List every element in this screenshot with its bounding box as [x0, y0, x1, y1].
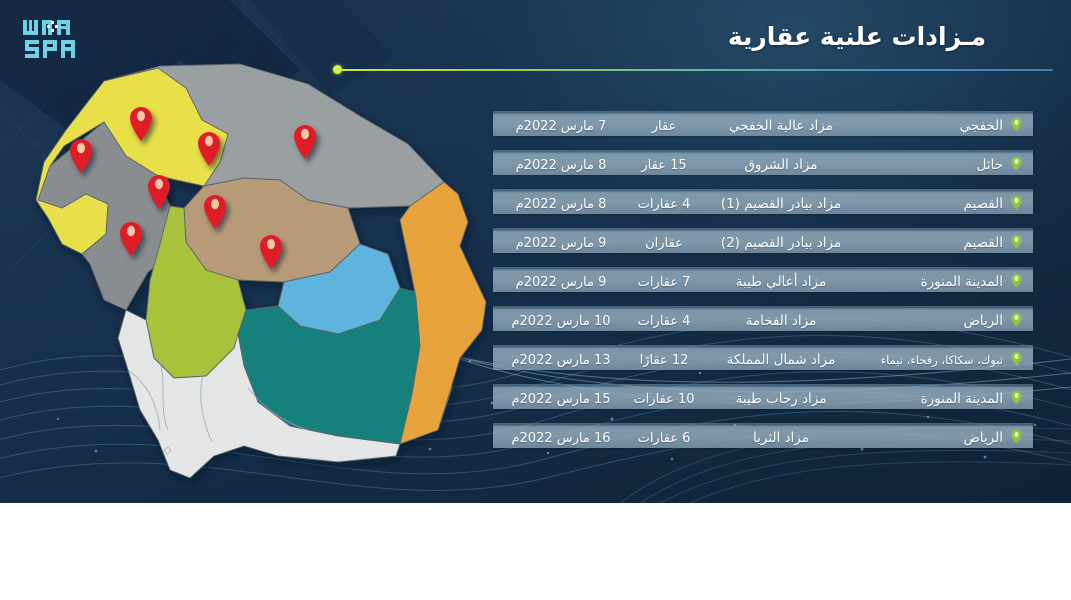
row-pin-icon-cell [1005, 117, 1027, 132]
table-row[interactable]: حائل مزاد الشروق 15 عقار 8 مارس 2022م [493, 150, 1033, 175]
row-pin-icon-cell [1005, 390, 1027, 405]
row-property-count: عقاران [621, 232, 707, 251]
footer-bar: infath_sa [0, 503, 1071, 600]
row-auction-name: مزاد الفخامة [707, 310, 855, 329]
row-pin-icon-cell [1005, 312, 1027, 327]
row-pin-icon-cell [1005, 234, 1027, 249]
pin-icon [1010, 429, 1023, 444]
row-date: 8 مارس 2022م [501, 154, 621, 173]
row-property-count: 7 عقارات [621, 271, 707, 290]
row-region: تبوك، سكاكا، رفحاء، تيماء [855, 349, 1005, 368]
pin-icon [1010, 273, 1023, 288]
row-region: الرياض [855, 427, 1005, 446]
row-property-count: 12 عقارًا [621, 349, 707, 368]
table-row[interactable]: الخفجي مزاد عالية الخفجي عقار 7 مارس 202… [493, 111, 1033, 136]
row-auction-name: مزاد الثريا [707, 427, 855, 446]
table-row[interactable]: المدينة المنورة مزاد رحاب طيبة 10 عقارات… [493, 384, 1033, 409]
row-region: المدينة المنورة [855, 271, 1005, 290]
row-auction-name: مزاد بيادر القصيم (1) [707, 193, 855, 212]
row-pin-icon-cell [1005, 195, 1027, 210]
row-auction-name: مزاد رحاب طيبة [707, 388, 855, 407]
row-region: الخفجي [855, 115, 1005, 134]
row-region: حائل [855, 154, 1005, 173]
row-property-count: 4 عقارات [621, 310, 707, 329]
auctions-table: الخفجي مزاد عالية الخفجي عقار 7 مارس 202… [493, 111, 1033, 448]
page-title: مـزادات علنية عقارية [633, 22, 1053, 51]
row-region: المدينة المنورة [855, 388, 1005, 407]
pin-icon [1010, 390, 1023, 405]
saudi-arabia-map [8, 58, 488, 478]
row-date: 10 مارس 2022م [501, 310, 621, 329]
page-title-block: مـزادات علنية عقارية [633, 22, 1053, 51]
row-date: 9 مارس 2022م [501, 232, 621, 251]
pin-icon [1010, 195, 1023, 210]
row-pin-icon-cell [1005, 351, 1027, 366]
row-auction-name: مزاد أعالي طيبة [707, 271, 855, 290]
row-date: 7 مارس 2022م [501, 115, 621, 134]
pin-icon [1010, 234, 1023, 249]
row-property-count: 10 عقارات [621, 388, 707, 407]
spa-logo [17, 14, 89, 62]
table-row[interactable]: القصيم مزاد بيادر القصيم (1) 4 عقارات 8 … [493, 189, 1033, 214]
row-property-count: عقار [621, 115, 707, 134]
pin-icon [1010, 117, 1023, 132]
infographic-stage: مـزادات علنية عقارية [0, 0, 1071, 503]
row-date: 8 مارس 2022م [501, 193, 621, 212]
pin-icon [1010, 351, 1023, 366]
row-auction-name: مزاد بيادر القصيم (2) [707, 232, 855, 251]
row-auction-name: مزاد عالية الخفجي [707, 115, 855, 134]
row-auction-name: مزاد الشروق [707, 154, 855, 173]
row-pin-icon-cell [1005, 273, 1027, 288]
row-pin-icon-cell [1005, 429, 1027, 444]
row-pin-icon-cell [1005, 156, 1027, 171]
pin-icon [1010, 312, 1023, 327]
table-row[interactable]: المدينة المنورة مزاد أعالي طيبة 7 عقارات… [493, 267, 1033, 292]
row-region: القصيم [855, 193, 1005, 212]
pin-icon [1010, 156, 1023, 171]
row-region: الرياض [855, 310, 1005, 329]
row-date: 15 مارس 2022م [501, 388, 621, 407]
row-property-count: 15 عقار [621, 154, 707, 173]
row-auction-name: مزاد شمال المملكة [707, 349, 855, 368]
table-row[interactable]: الرياض مزاد الثريا 6 عقارات 16 مارس 2022… [493, 423, 1033, 448]
row-property-count: 6 عقارات [621, 427, 707, 446]
table-row[interactable]: تبوك، سكاكا، رفحاء، تيماء مزاد شمال المم… [493, 345, 1033, 370]
row-date: 9 مارس 2022م [501, 271, 621, 290]
row-date: 16 مارس 2022م [501, 427, 621, 446]
table-row[interactable]: الرياض مزاد الفخامة 4 عقارات 10 مارس 202… [493, 306, 1033, 331]
table-row[interactable]: القصيم مزاد بيادر القصيم (2) عقاران 9 ما… [493, 228, 1033, 253]
row-date: 13 مارس 2022م [501, 349, 621, 368]
row-property-count: 4 عقارات [621, 193, 707, 212]
row-region: القصيم [855, 232, 1005, 251]
